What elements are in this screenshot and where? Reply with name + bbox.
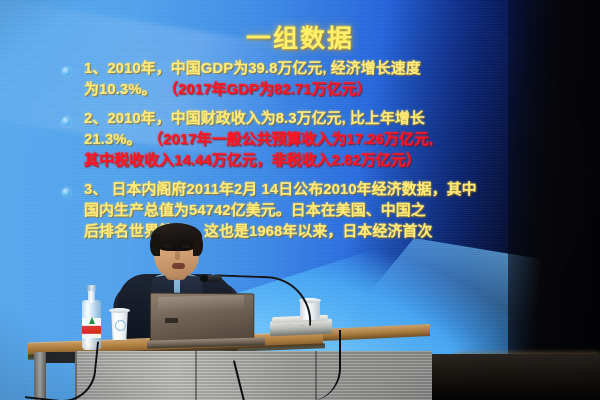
bullet-1-line-2-text: 为10.3%。 [84, 81, 157, 98]
presenter-eyebrow-right [181, 241, 191, 243]
paper-cup-rim [109, 308, 130, 313]
bullet-dot-icon [62, 188, 71, 197]
bullet-2-line-2-highlight: （2017年一般公共预算收入为17.26万亿元, [142, 131, 434, 148]
bullet-1-line-2-highlight: （2017年GDP为82.71万亿元） [157, 81, 372, 98]
microphone-capsule [200, 275, 208, 282]
microphone-head [206, 275, 222, 282]
presenter-eye-right [182, 245, 190, 248]
water-bottle-logo-icon [89, 317, 95, 324]
presenter-hair-right [193, 234, 203, 256]
laptop-logo-icon [165, 318, 178, 323]
presenter-hair-left [150, 234, 160, 256]
presenter-eyebrow-left [163, 241, 173, 243]
dark-hall-background [508, 0, 600, 400]
bullet-2-line-2-text: 21.3%。 [84, 131, 142, 148]
presenter-eye-left [164, 245, 172, 248]
paper-cup-logo-icon [115, 320, 126, 331]
bullet-dot-icon [62, 117, 71, 126]
podium-panel-seam [195, 351, 197, 400]
presenter-mouth [172, 263, 185, 269]
cable-left [25, 335, 99, 400]
water-bottle-cap [87, 285, 96, 291]
hall-foreground-shadow [430, 354, 600, 400]
presenter-nose [175, 251, 180, 260]
bullet-dot-icon [62, 67, 71, 76]
screenshot-root: 一组数据 1、2010年，中国GDP为39.8万亿元, 经济增长速度 为10.3… [0, 0, 600, 400]
